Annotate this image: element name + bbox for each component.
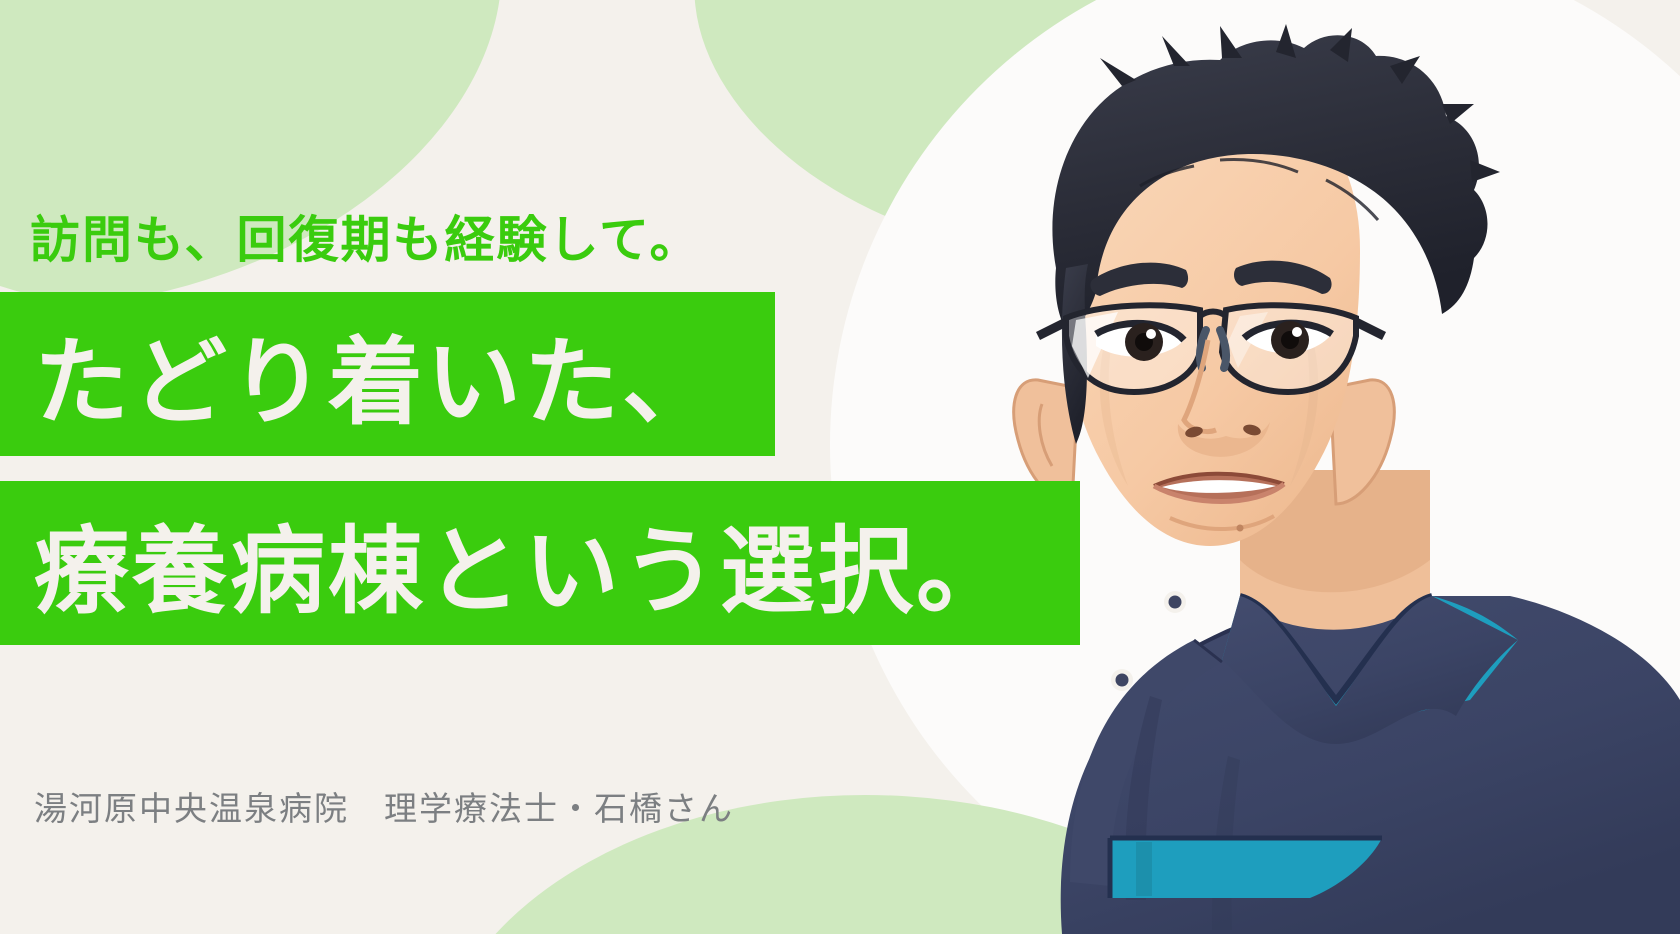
head (1014, 24, 1500, 546)
caption-credit: 湯河原中央温泉病院 理学療法士・石橋さん (34, 782, 734, 830)
title-line-1: たどり着いた、 (34, 306, 720, 443)
title-band-second: 療養病棟という選択。 (0, 481, 1080, 645)
portrait-illustration (770, 0, 1680, 934)
hero-banner: 訪問も、回復期も経験して。 たどり着いた、 療養病棟という選択。 湯河原中央温泉… (0, 0, 1680, 934)
title-band-first: たどり着いた、 (0, 292, 775, 456)
title-line-2: 療養病棟という選択。 (34, 495, 1014, 632)
kicker-text: 訪問も、回復期も経験して。 (30, 200, 702, 272)
